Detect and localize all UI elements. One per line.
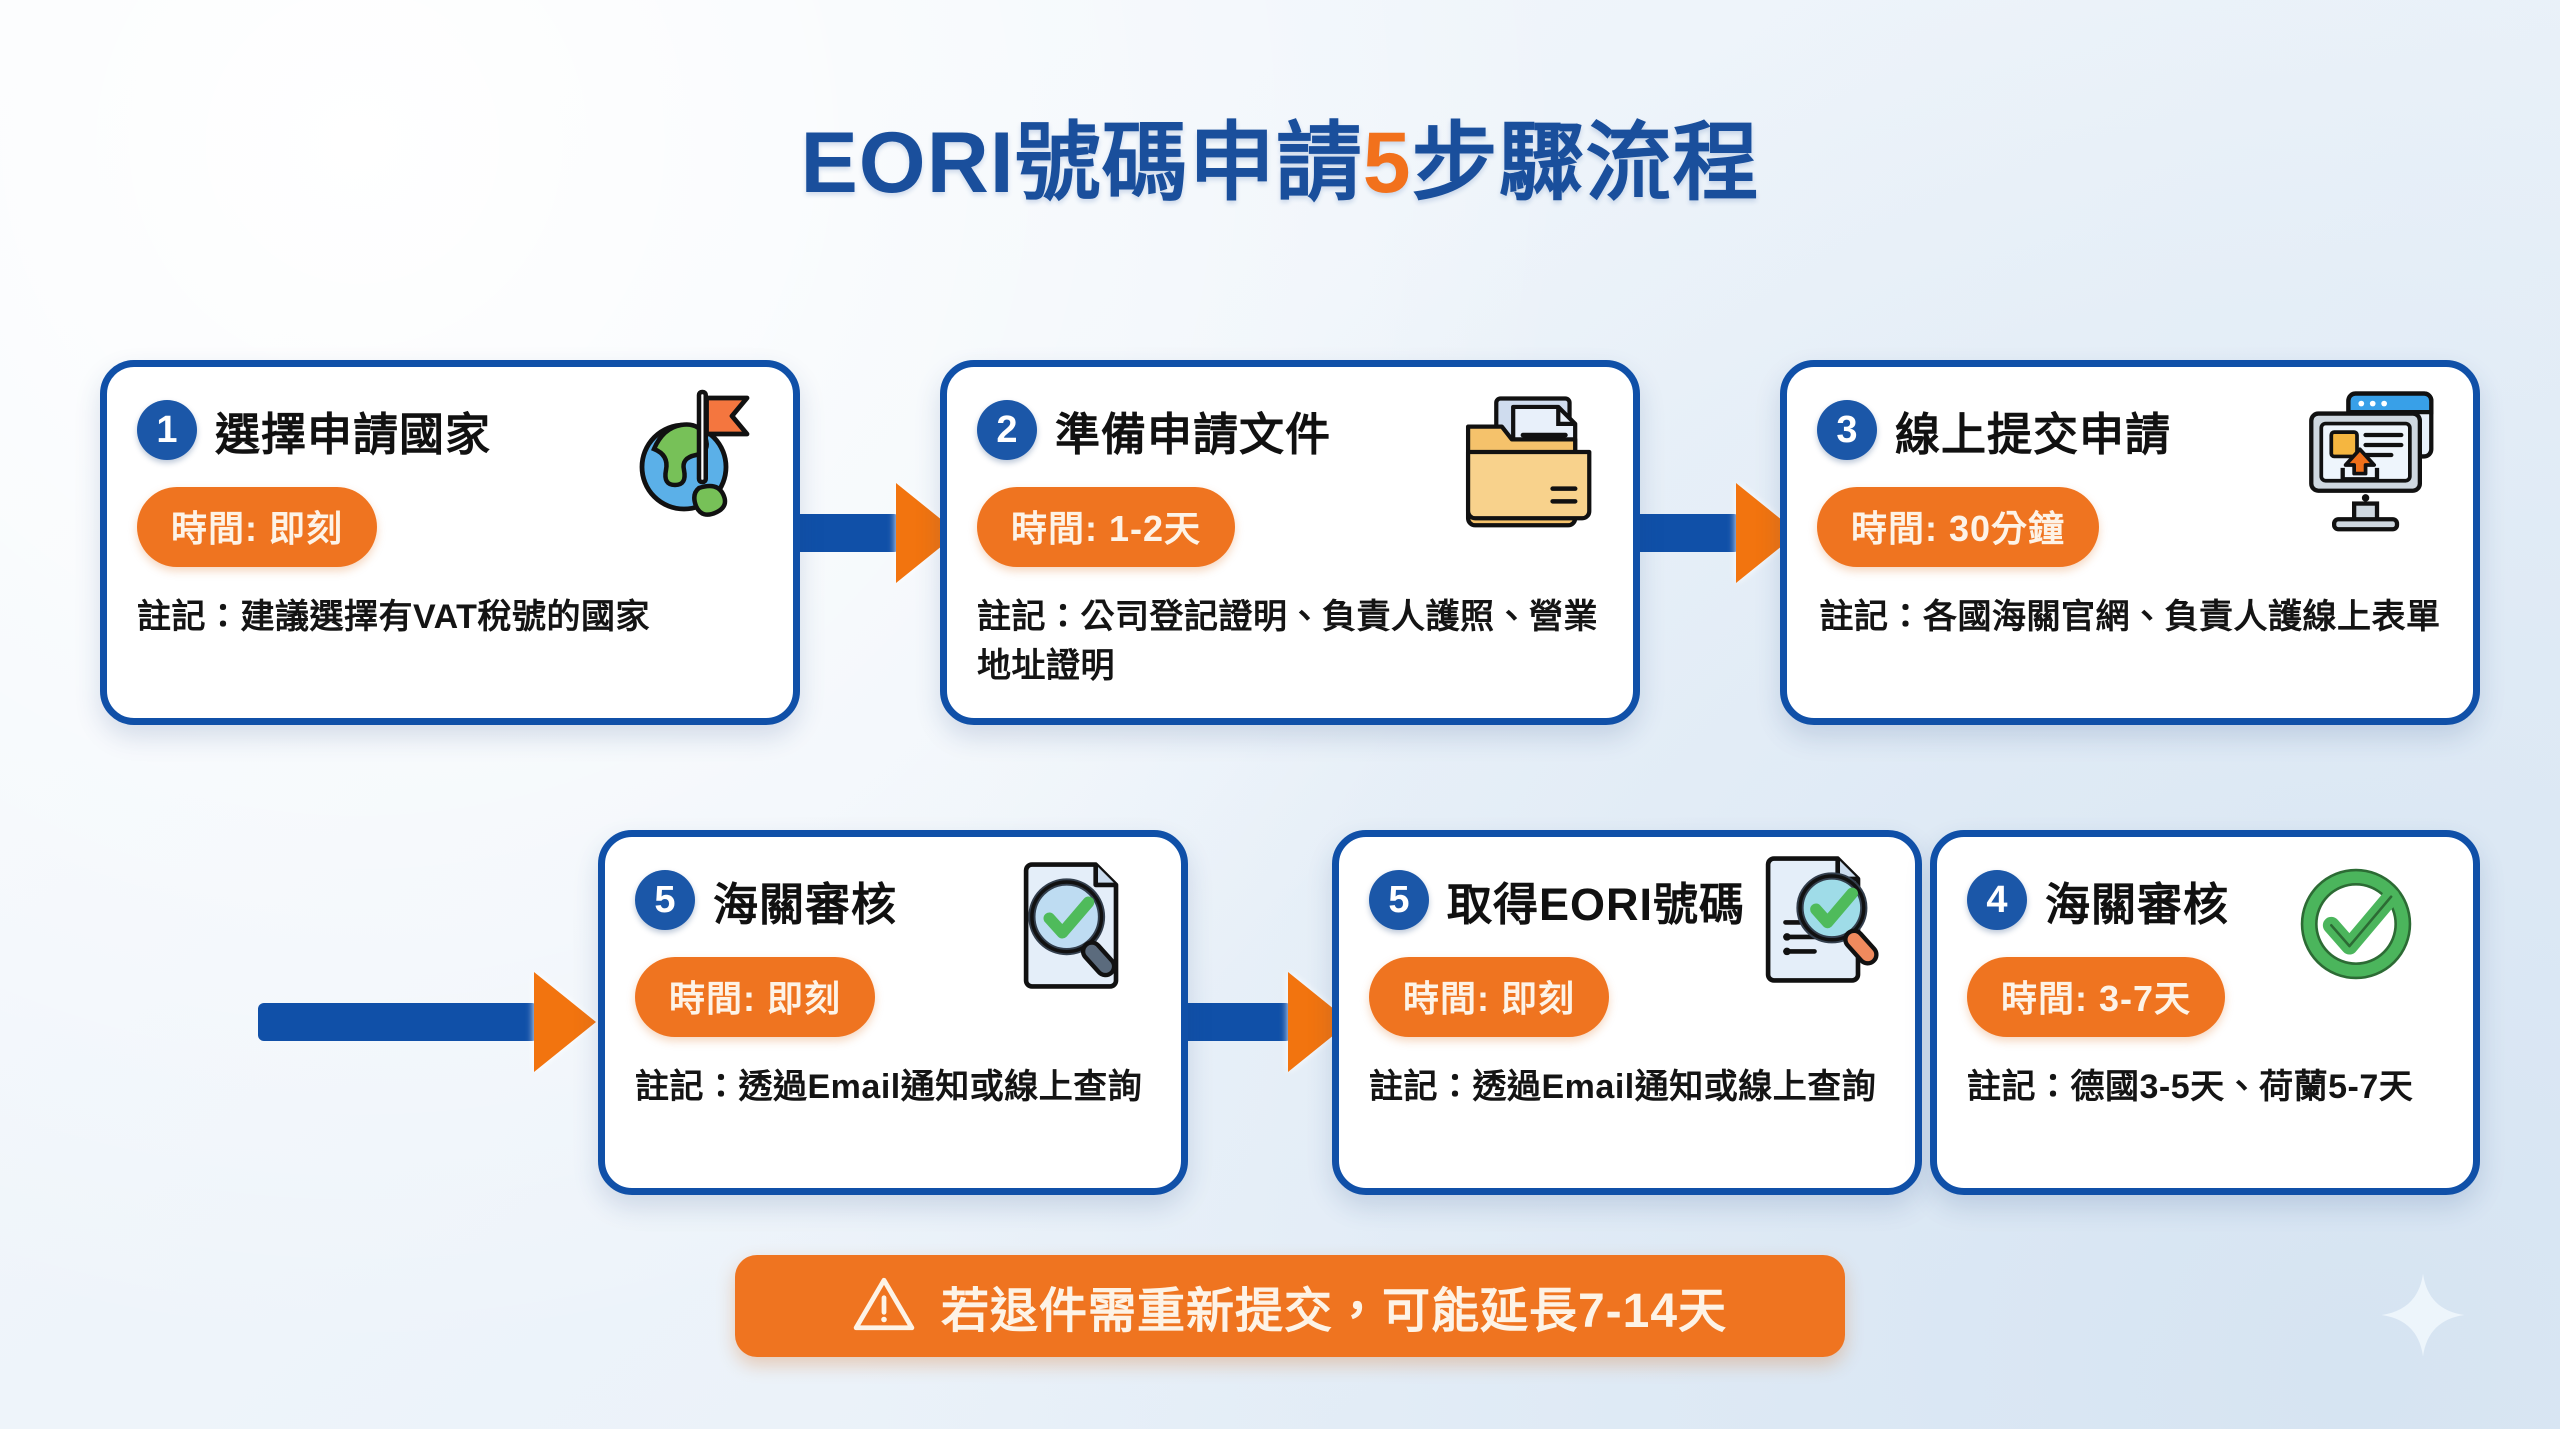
step-card-1[interactable]: 1 選擇申請國家 時間: 即刻 註記：建議選擇有VAT稅號的國家 <box>100 360 800 725</box>
step-number-badge: 1 <box>137 400 197 460</box>
globe-flag-icon <box>621 377 771 532</box>
document-magnifier-check-icon <box>1742 847 1887 997</box>
step-note: 註記：各國海關官網、負責人護線上表單 <box>1817 593 2443 642</box>
step-time-badge: 時間: 即刻 <box>137 487 377 567</box>
green-check-circle-icon <box>2291 859 2421 994</box>
arrow-head <box>534 972 596 1072</box>
step-note: 註記：透過Email通知或線上查詢 <box>635 1063 1151 1112</box>
page-title-container: EORI號碼申請5步驟流程 <box>0 92 2560 217</box>
page-title-highlight: 5 <box>1363 115 1412 211</box>
document-magnifier-check-icon <box>1000 853 1145 1003</box>
arrow-shaft <box>1630 514 1740 552</box>
step-card-6-customs-review[interactable]: 4 海關審核 時間: 3-7天 註記：德國3-5天、荷蘭5-7天 <box>1930 830 2480 1195</box>
step-title: 海關審核 <box>2045 868 2229 933</box>
step-number-badge: 5 <box>635 870 695 930</box>
arrow-step1-to-step2 <box>790 483 958 583</box>
step-note: 註記：德國3-5天、荷蘭5-7天 <box>1967 1063 2443 1112</box>
warning-banner-text: 若退件需重新提交，可能延長7-14天 <box>941 1271 1727 1341</box>
step-title: 線上提交申請 <box>1895 398 2171 463</box>
page-title: EORI號碼申請5步驟流程 <box>800 92 1759 217</box>
step-card-3[interactable]: 3 線上提交申請 時間: 30分鐘 <box>1780 360 2480 725</box>
step-time-badge: 時間: 即刻 <box>1369 957 1609 1037</box>
page-title-prefix: EORI號碼申請 <box>800 115 1362 211</box>
step-number-badge: 4 <box>1967 870 2027 930</box>
step-card-5-obtain-eori[interactable]: 5 取得EORI號碼 時間: 即刻 註記：透過Email通知或線上查詢 <box>1332 830 1922 1195</box>
arrow-shaft <box>790 514 900 552</box>
arrow-step2-to-step3 <box>1630 483 1798 583</box>
step-title: 選擇申請國家 <box>215 398 491 463</box>
step-number-badge: 5 <box>1369 870 1429 930</box>
step-note: 註記：透過Email通知或線上查詢 <box>1369 1063 1885 1112</box>
arrow-shaft <box>258 1003 538 1041</box>
step-card-4-customs-review[interactable]: 5 海關審核 時間: 即刻 註記：透過Email通知或線上查詢 <box>598 830 1188 1195</box>
step-card-6-header: 4 海關審核 <box>1967 865 2443 935</box>
four-point-star-sparkle <box>2380 1272 2466 1358</box>
arrow-shaft <box>1182 1003 1292 1041</box>
step-card-2[interactable]: 2 準備申請文件 時間: 1-2天 註記：公司登記證明、負 <box>940 360 1640 725</box>
step-card-2-header: 2 準備申請文件 <box>977 395 1603 465</box>
step-card-5-header: 5 取得EORI號碼 <box>1369 865 1885 935</box>
step-card-1-header: 1 選擇申請國家 <box>137 395 763 465</box>
step-title: 準備申請文件 <box>1055 398 1331 463</box>
warning-triangle-icon <box>853 1276 915 1337</box>
monitor-upload-icon <box>2297 385 2447 540</box>
step-note: 註記：建議選擇有VAT稅號的國家 <box>137 593 763 642</box>
folder-documents-icon <box>1454 389 1609 544</box>
step-number-badge: 2 <box>977 400 1037 460</box>
step-time-badge: 時間: 30分鐘 <box>1817 487 2099 567</box>
step-title: 取得EORI號碼 <box>1447 868 1745 933</box>
warning-banner: 若退件需重新提交，可能延長7-14天 <box>735 1255 1845 1357</box>
step-card-3-header: 3 線上提交申請 <box>1817 395 2443 465</box>
step-number-badge: 3 <box>1817 400 1877 460</box>
step-card-4-header: 5 海關審核 <box>635 865 1151 935</box>
arrow-bottom-left-to-middle <box>1182 972 1350 1072</box>
step-note: 註記：公司登記證明、負責人護照、營業地址證明 <box>977 593 1603 692</box>
page-title-suffix: 步驟流程 <box>1412 115 1760 211</box>
arrow-into-bottom-row <box>258 972 596 1072</box>
step-title: 海關審核 <box>713 868 897 933</box>
step-time-badge: 時間: 1-2天 <box>977 487 1235 567</box>
step-time-badge: 時間: 3-7天 <box>1967 957 2225 1037</box>
step-time-badge: 時間: 即刻 <box>635 957 875 1037</box>
